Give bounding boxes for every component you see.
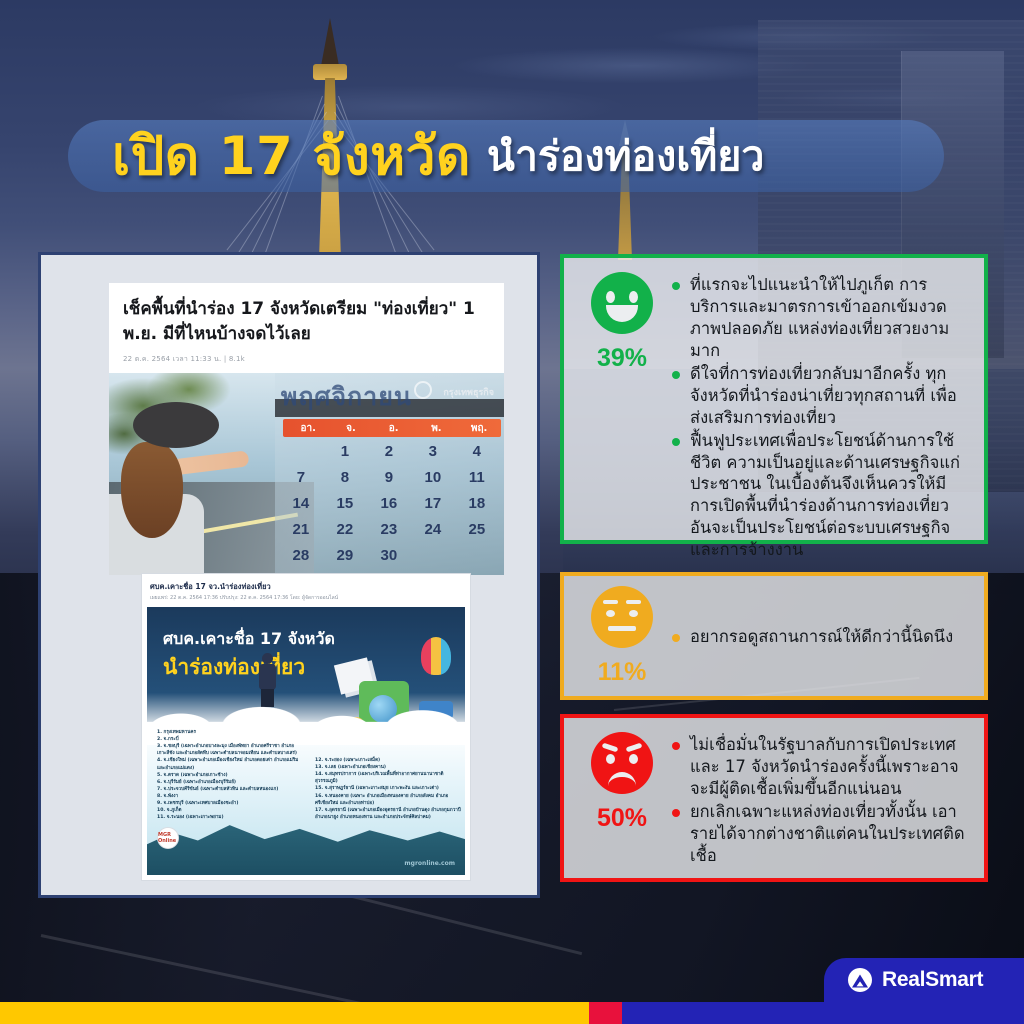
- comment-list-neutral: อยากรอดูสถานการณ์ให้ดีกว่านี้นิดนึง: [670, 626, 953, 649]
- post-meta: เผยแพร่: 22 ต.ค. 2564 17:36 ปรับปรุง: 22…: [142, 594, 470, 607]
- calendar-month-label: พฤศจิกายน: [281, 377, 412, 417]
- province-item: 6. จ.บุรีรัมย์ (เฉพาะอำเภอเมืองบุรีรัมย์…: [157, 779, 307, 786]
- province-item: 3. จ.ชลบุรี (เฉพาะอำเภอบางละมุง เมืองพัท…: [157, 743, 307, 757]
- province-item: 12. จ.ระยอง (เฉพาะเกาะเสม็ด): [315, 757, 465, 764]
- province-item: 9. จ.เพชรบุรี (เฉพาะเทศบาลเมืองชะอำ): [157, 800, 307, 807]
- province-item: 14. จ.สมุทรปราการ (เฉพาะบริเวณพื้นที่ท่า…: [315, 771, 465, 785]
- calendar-date: 4: [455, 443, 499, 460]
- province-item: 8. จ.พังงา: [157, 793, 307, 800]
- article-headline: เช็คพื้นที่นำร่อง 17 จังหวัดเตรียม "ท่อง…: [109, 283, 504, 350]
- calendar-date: 24: [411, 521, 455, 538]
- comment-item: ฟื้นฟูประเทศเพื่อประโยชน์ด้านการใช้ชีวิต…: [670, 430, 970, 562]
- province-item: 13. จ.เลย (เฉพาะอำเภอเชียงคาน): [315, 764, 465, 771]
- poster-credit: mgronline.com: [404, 860, 455, 867]
- calendar-date: 7: [279, 469, 323, 486]
- title-highlight: เปิด 17 จังหวัด: [112, 130, 471, 183]
- post-title: ศบค.เคาะชื่อ 17 จว.นำร่องท่องเที่ยว: [142, 574, 470, 594]
- brand-logo-badge[interactable]: RealSmart: [824, 958, 1024, 1002]
- comment-list-positive: ที่แรกจะไปแนะนำให้ไปภูเก็ต การบริการและม…: [670, 274, 970, 561]
- calendar-date: 25: [455, 521, 499, 538]
- comment-item: ไม่เชื่อมั่นในรัฐบาลกับการเปิดประเทศและ …: [670, 734, 970, 800]
- poster-artwork: ศบค.เคาะชื่อ 17 จังหวัด นำร่องท่องเที่ยว: [147, 607, 465, 875]
- stripe-segment-yellow: [0, 1002, 589, 1024]
- calendar-date: 15: [323, 495, 367, 512]
- watermark-logo-icon: [414, 381, 432, 399]
- eye-right: [629, 754, 638, 764]
- calendar-date: 11: [455, 469, 499, 486]
- province-item: 7. จ.ประจวบคีรีขันธ์ (เฉพาะตำบลหัวหิน แล…: [157, 786, 307, 793]
- brow-right: [626, 600, 641, 604]
- sentiment-text-neutral: อยากรอดูสถานการณ์ให้ดีกว่านี้นิดนึง: [670, 590, 970, 682]
- comment-item: อยากรอดูสถานการณ์ให้ดีกว่านี้นิดนึง: [670, 626, 953, 648]
- eye-left: [606, 754, 615, 764]
- percent-negative: 50%: [597, 804, 647, 833]
- neutral-face-icon: [591, 586, 653, 648]
- sentiment-box-neutral: 11% อยากรอดูสถานการณ์ให้ดีกว่านี้นิดนึง: [560, 572, 988, 700]
- province-item: 1. กรุงเทพมหานคร: [157, 729, 307, 736]
- calendar-date: 22: [323, 521, 367, 538]
- calendar-watermark: กรุงเทพธุรกิจ: [443, 385, 494, 399]
- province-item: 10. จ.ภูเก็ต: [157, 807, 307, 814]
- calendar-date: 17: [411, 495, 455, 512]
- calendar-date: 21: [279, 521, 323, 538]
- province-item: 15. จ.สุราษฎร์ธานี (เฉพาะเกาะสมุย เกาะพะ…: [315, 785, 465, 792]
- calendar-date: 16: [367, 495, 411, 512]
- sentiment-box-positive: 39% ที่แรกจะไปแนะนำให้ไปภูเก็ต การบริการ…: [560, 254, 988, 544]
- calendar-day-header: พ.: [415, 421, 458, 436]
- percent-positive: 39%: [597, 344, 647, 373]
- angry-face-icon: [591, 732, 653, 794]
- brow-left: [602, 743, 619, 753]
- province-list-right: 12. จ.ระยอง (เฉพาะเกาะเสม็ด) 13. จ.เลย (…: [315, 757, 465, 821]
- calendar-day-header: อ.: [372, 421, 415, 436]
- calendar-date: 3: [411, 443, 455, 460]
- calendar-date: 8: [323, 469, 367, 486]
- calendar-day-headers: อา. จ. อ. พ. พฤ.: [283, 419, 501, 437]
- eye-left: [606, 291, 615, 303]
- calendar-day-header: อา.: [287, 421, 330, 436]
- province-item: 17. จ.อุดรธานี (เฉพาะอำเภอเมืองอุดรธานี …: [315, 807, 465, 821]
- mouth-frown: [608, 772, 636, 786]
- brand-name: RealSmart: [882, 968, 983, 992]
- percent-neutral: 11%: [598, 658, 647, 687]
- mouth-flat: [608, 626, 636, 631]
- calendar-date: 14: [279, 495, 323, 512]
- stripe-segment-red: [589, 1002, 622, 1024]
- sentiment-meter-negative: 50%: [574, 732, 670, 833]
- pylon-spire: [321, 18, 339, 66]
- calendar-date: 2: [367, 443, 411, 460]
- figure-head: [262, 653, 273, 664]
- calendar-date: 28: [279, 547, 323, 564]
- province-item: 4. จ.เชียงใหม่ (เฉพาะอำเภอเมืองเชียงใหม่…: [157, 757, 307, 771]
- sentiment-text-negative: ไม่เชื่อมั่นในรัฐบาลกับการเปิดประเทศและ …: [670, 732, 970, 868]
- calendar-date: 23: [367, 521, 411, 538]
- photo-hat: [133, 402, 219, 448]
- article-meta: 22 ต.ค. 2564 เวลา 11:33 น. | 8.1k: [109, 350, 504, 373]
- brow-right: [626, 743, 643, 753]
- province-item: 2. จ.กระบี่: [157, 736, 307, 743]
- calendar-date: 10: [411, 469, 455, 486]
- calendar-day-header: พฤ.: [458, 421, 501, 436]
- pylon-capital: [313, 64, 347, 80]
- realsmart-logo-icon: [848, 968, 872, 992]
- comment-list-negative: ไม่เชื่อมั่นในรัฐบาลกับการเปิดประเทศและ …: [670, 734, 970, 867]
- comment-item: ที่แรกจะไปแนะนำให้ไปภูเก็ต การบริการและม…: [670, 274, 970, 362]
- calendar-date: [279, 443, 323, 460]
- province-item: 5. จ.ตราด (เฉพาะอำเภอเกาะช้าง): [157, 772, 307, 779]
- news-article[interactable]: เช็คพื้นที่นำร่อง 17 จังหวัดเตรียม "ท่อง…: [109, 283, 504, 575]
- social-post-card[interactable]: ศบค.เคาะชื่อ 17 จว.นำร่องท่องเที่ยว เผยแ…: [141, 573, 471, 881]
- mouth-smile: [606, 305, 638, 322]
- calendar-date: 9: [367, 469, 411, 486]
- calendar-image: พฤศจิกายน กรุงเทพธุรกิจ อา. จ. อ. พ. พฤ.…: [275, 373, 504, 575]
- calendar-date: 29: [323, 547, 367, 564]
- title-rest: นำร่องท่องเที่ยว: [487, 136, 764, 177]
- calendar-day-header: จ.: [330, 421, 373, 436]
- calendar-date-grid: 1 2 3 4 7 8 9 10 11 14 15 16 17 18: [279, 443, 499, 564]
- poster-heading-line1: ศบค.เคาะชื่อ 17 จังหวัด: [163, 627, 335, 652]
- stripe-segment-blue: [622, 1002, 1024, 1024]
- mgr-online-badge: MGR Online: [157, 827, 179, 849]
- photo-hair: [121, 442, 183, 538]
- article-photo: พฤศจิกายน กรุงเทพธุรกิจ อา. จ. อ. พ. พฤ.…: [109, 373, 504, 575]
- comment-item: ดีใจที่การท่องเที่ยวกลับมาอีกครั้ง ทุกจั…: [670, 363, 970, 429]
- eye-right: [629, 291, 638, 303]
- comment-item: ยกเลิกเฉพาะแหล่งท่องเที่ยวทั้งนั้น เอารา…: [670, 801, 970, 867]
- sentiment-box-negative: 50% ไม่เชื่อมั่นในรัฐบาลกับการเปิดประเทศ…: [560, 714, 988, 882]
- province-item: 11. จ.ระนอง (เฉพาะเกาะพยาม): [157, 814, 307, 821]
- sentiment-text-positive: ที่แรกจะไปแนะนำให้ไปภูเก็ต การบริการและม…: [670, 272, 970, 562]
- poster-heading-line2: นำร่องท่องเที่ยว: [163, 651, 305, 684]
- brow-left: [603, 600, 618, 604]
- infographic-root: เปิด 17 จังหวัด นำร่องท่องเที่ยว เช็คพื้…: [0, 0, 1024, 1024]
- calendar-date: 18: [455, 495, 499, 512]
- sentiment-meter-positive: 39%: [574, 272, 670, 373]
- sentiment-meter-neutral: 11%: [574, 586, 670, 687]
- calendar-date: 1: [323, 443, 367, 460]
- bottom-stripe: [0, 1002, 1024, 1024]
- smiling-face-icon: [591, 272, 653, 334]
- title-banner: เปิด 17 จังหวัด นำร่องท่องเที่ยว: [68, 120, 944, 192]
- eye-right: [629, 610, 638, 617]
- province-list-left: 1. กรุงเทพมหานคร 2. จ.กระบี่ 3. จ.ชลบุรี…: [157, 729, 307, 821]
- hot-air-balloon-icon: [421, 637, 451, 675]
- news-card-panel: เช็คพื้นที่นำร่อง 17 จังหวัดเตรียม "ท่อง…: [38, 252, 540, 898]
- province-item: 16. จ.หนองคาย (เฉพาะ อำเภอเมืองหนองคาย อ…: [315, 793, 465, 807]
- figure-body: [259, 664, 276, 690]
- calendar-date: 30: [367, 547, 411, 564]
- eye-left: [606, 610, 615, 617]
